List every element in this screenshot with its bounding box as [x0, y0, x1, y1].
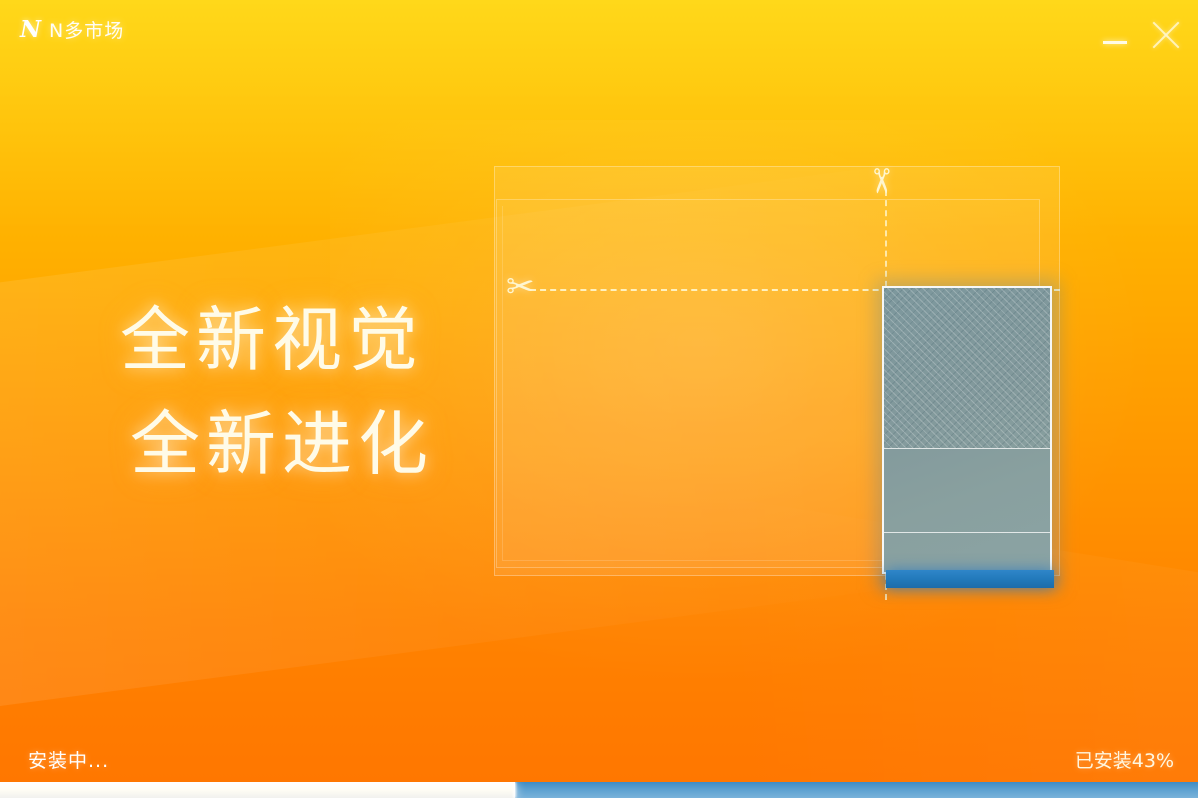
- progress-bar-fill: [0, 782, 515, 798]
- close-button[interactable]: [1150, 20, 1180, 50]
- device-panel-blue-bar: [886, 570, 1054, 588]
- window-controls: [1100, 20, 1180, 50]
- hero-illustration: ✂ ✂: [494, 166, 1060, 578]
- hero-headline: 全新视觉 全新进化: [120, 288, 434, 496]
- installer-window: N N多市场 全新视觉 全新进化 ✂ ✂ 安装中... 已安装43%: [0, 0, 1198, 798]
- hero-line-2: 全新进化: [130, 392, 434, 496]
- hero-line-1: 全新视觉: [120, 288, 434, 392]
- title-bar: N N多市场: [0, 0, 1198, 68]
- device-panel: [882, 286, 1052, 574]
- device-panel-divider-1: [884, 448, 1050, 449]
- install-progress-text: 已安装43%: [1075, 746, 1174, 773]
- scissors-icon-left: ✂: [506, 270, 535, 304]
- progress-bar: [0, 782, 1198, 798]
- install-status-text: 安装中...: [28, 746, 109, 773]
- app-logo-icon: N: [20, 18, 40, 41]
- brand: N N多市场: [20, 16, 124, 43]
- device-panel-hatch: [884, 288, 1050, 448]
- device-panel-divider-2: [884, 532, 1050, 533]
- app-title: N多市场: [49, 16, 124, 43]
- status-bar: 安装中... 已安装43%: [0, 738, 1198, 782]
- minimize-button[interactable]: [1100, 20, 1130, 50]
- scissors-icon-top: ✂: [863, 167, 897, 196]
- progress-bar-edge: [513, 782, 516, 798]
